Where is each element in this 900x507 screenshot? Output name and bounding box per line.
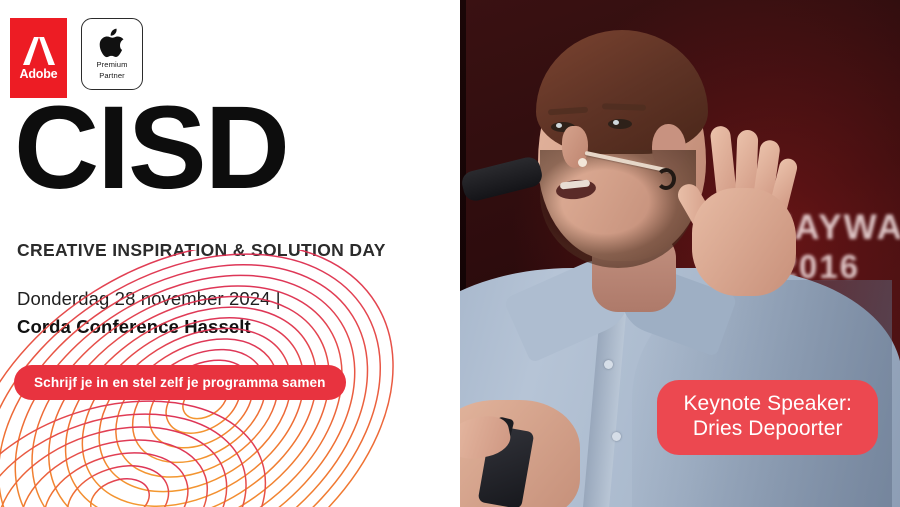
adobe-a-icon <box>22 36 56 66</box>
speaker-photo: JAYWA 2016 <box>452 0 900 507</box>
palm <box>692 188 796 296</box>
shirt-button <box>604 360 613 369</box>
event-venue: Corda Conference Hasselt <box>17 316 251 338</box>
eye-highlight-left <box>556 123 562 128</box>
register-cta-button[interactable]: Schrijf je in en stel zelf je programma … <box>14 365 346 400</box>
keynote-speaker-name: Dries Depoorter <box>683 416 852 442</box>
apple-partner-line-2: Partner <box>99 71 125 80</box>
eye-right <box>608 119 632 129</box>
eye-highlight-right <box>613 120 619 125</box>
apple-premium-partner-badge: Premium Partner <box>81 18 143 90</box>
page-title: CISD <box>14 94 288 203</box>
raised-hand <box>684 126 812 298</box>
headset-mic-tip <box>578 158 587 167</box>
keynote-label: Keynote Speaker: <box>683 391 852 417</box>
page-tagline: CREATIVE INSPIRATION & SOLUTION DAY <box>17 240 386 261</box>
left-content-panel: Adobe Premium Partner CISD CREATIVE INSP… <box>0 0 460 507</box>
apple-icon <box>99 28 125 58</box>
event-banner: JAYWA 2016 <box>0 0 900 507</box>
shirt-button <box>612 432 621 441</box>
wristwatch <box>460 155 545 203</box>
apple-partner-line-1: Premium <box>96 60 127 69</box>
headset-earpiece <box>656 168 676 190</box>
keynote-speaker-badge[interactable]: Keynote Speaker: Dries Depoorter <box>657 380 878 455</box>
adobe-wordmark: Adobe <box>20 68 58 81</box>
event-date: Donderdag 28 november 2024 | <box>17 288 281 310</box>
